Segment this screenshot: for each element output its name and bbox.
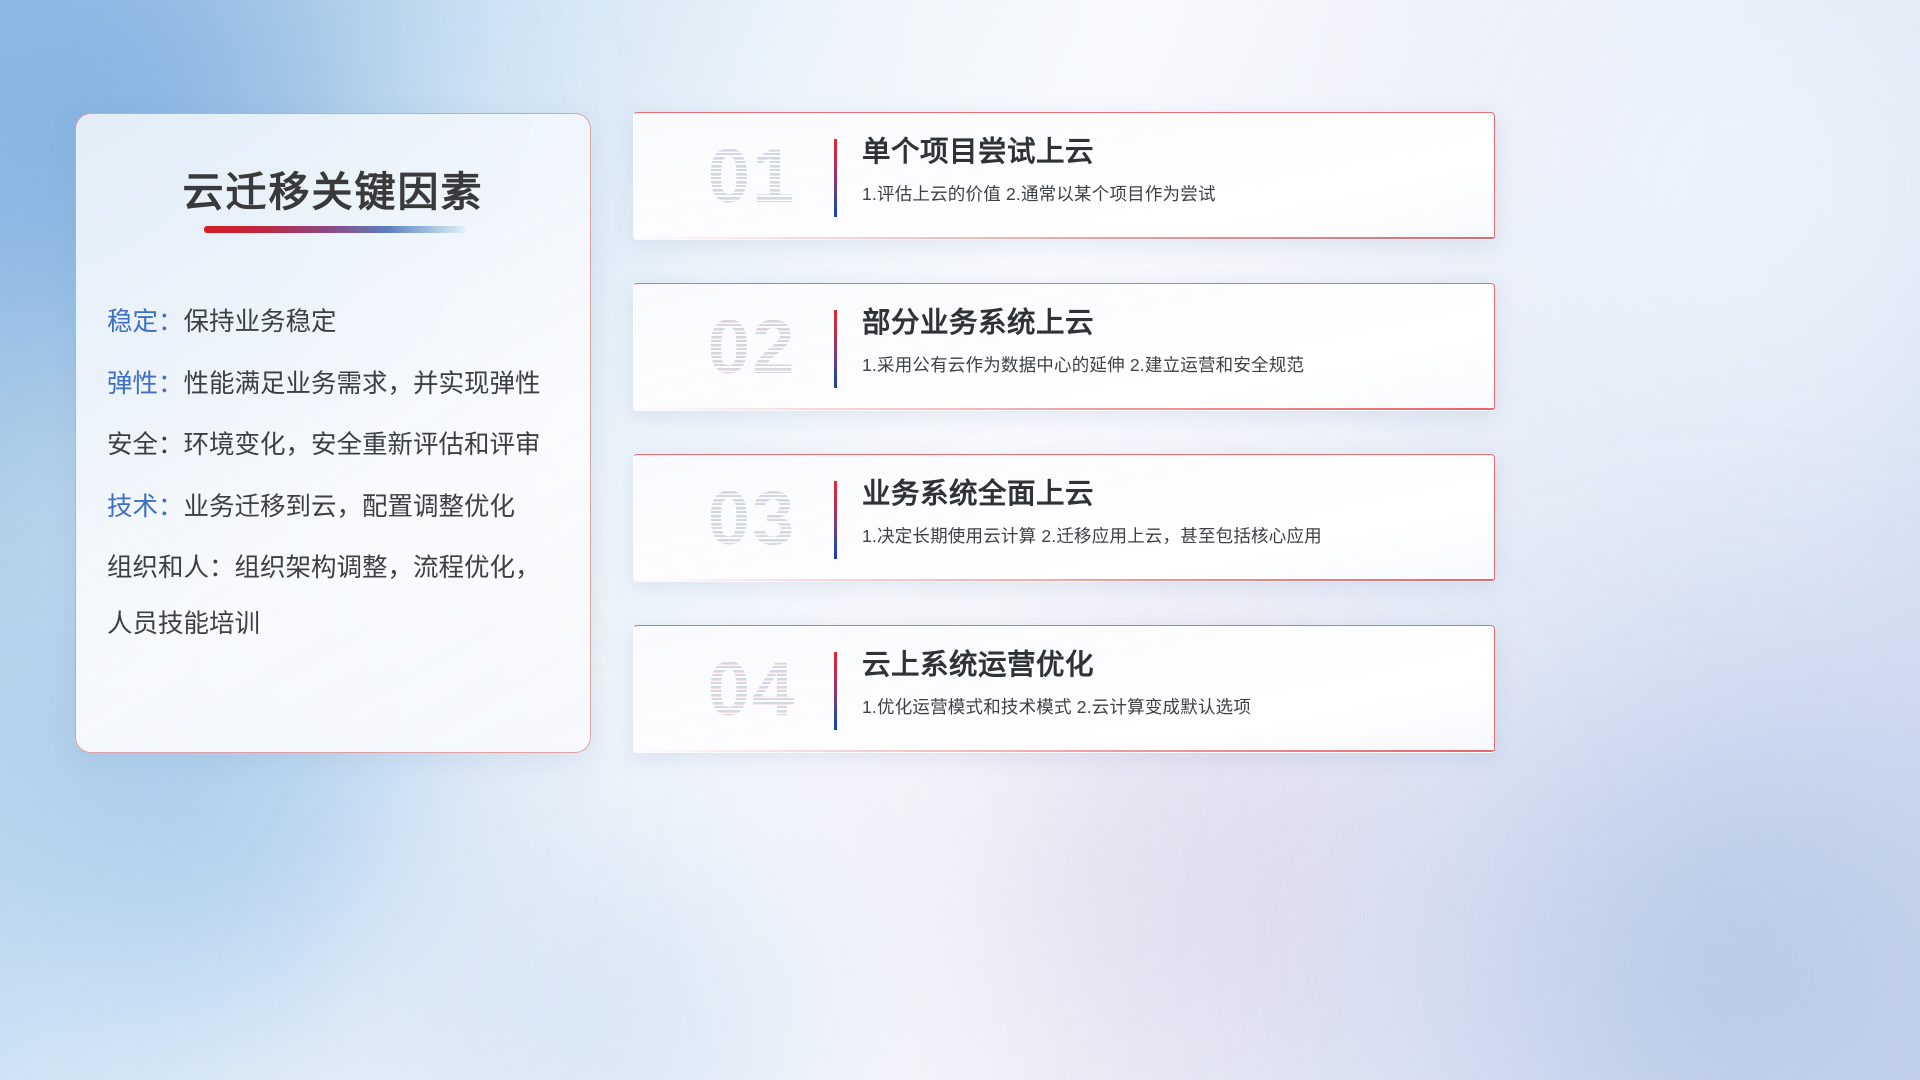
- stage-divider-icon: [834, 139, 837, 217]
- stage-title: 单个项目尝试上云: [862, 135, 1474, 169]
- stage-body: 单个项目尝试上云 1.评估上云的价值 2.通常以某个项目作为尝试: [862, 135, 1474, 206]
- stage-number-03-overlay: 03: [672, 473, 832, 565]
- factor-text: 业务迁移到云，配置调整优化: [184, 493, 516, 521]
- stage-description: 1.评估上云的价值 2.通常以某个项目作为尝试: [862, 181, 1474, 206]
- stage-divider-icon: [834, 481, 837, 559]
- stage-body: 云上系统运营优化 1.优化运营模式和技术模式 2.云计算变成默认选项: [862, 648, 1474, 719]
- stage-number-02-overlay: 02: [672, 302, 832, 394]
- stage-title: 业务系统全面上云: [862, 477, 1474, 511]
- factor-text: 性能满足业务需求，并实现弹性: [184, 370, 541, 398]
- factor-list: 稳定：保持业务稳定 弹性：性能满足业务需求，并实现弹性 安全：环境变化，安全重新…: [107, 310, 568, 637]
- stage-card-03[interactable]: 03 03 业务系统全面上云 1.决定长期使用云计算 2.迁移应用上云，甚至包括…: [633, 454, 1495, 582]
- factor-text: 人员技能培训: [107, 610, 260, 638]
- stage-description: 1.决定长期使用云计算 2.迁移应用上云，甚至包括核心应用: [862, 523, 1474, 548]
- stage-title: 云上系统运营优化: [862, 648, 1474, 682]
- stage-number-01-overlay: 01: [672, 131, 832, 223]
- factor-label: 弹性：: [107, 370, 184, 398]
- page-title: 云迁移关键因素: [76, 158, 590, 218]
- stage-divider-icon: [834, 652, 837, 730]
- factor-text: 组织架构调整，流程优化，: [235, 554, 541, 582]
- list-item: 稳定：保持业务稳定: [107, 310, 568, 336]
- factor-text: 保持业务稳定: [184, 308, 337, 336]
- stage-description: 1.优化运营模式和技术模式 2.云计算变成默认选项: [862, 694, 1474, 719]
- factor-label: 组织和人：: [107, 554, 235, 582]
- stage-number-04-overlay: 04: [672, 644, 832, 736]
- stage-card-list: 01 01 单个项目尝试上云 1.评估上云的价值 2.通常以某个项目作为尝试 0…: [633, 112, 1495, 753]
- list-item: 技术：业务迁移到云，配置调整优化: [107, 495, 568, 521]
- stage-card-02[interactable]: 02 02 部分业务系统上云 1.采用公有云作为数据中心的延伸 2.建立运营和安…: [633, 283, 1495, 411]
- list-item: 弹性：性能满足业务需求，并实现弹性: [107, 372, 568, 398]
- stage-card-04[interactable]: 04 04 云上系统运营优化 1.优化运营模式和技术模式 2.云计算变成默认选项: [633, 625, 1495, 753]
- stage-title: 部分业务系统上云: [862, 306, 1474, 340]
- stage-description: 1.采用公有云作为数据中心的延伸 2.建立运营和安全规范: [862, 352, 1474, 377]
- stage-divider-icon: [834, 310, 837, 388]
- stage-body: 部分业务系统上云 1.采用公有云作为数据中心的延伸 2.建立运营和安全规范: [862, 306, 1474, 377]
- stage-card-01[interactable]: 01 01 单个项目尝试上云 1.评估上云的价值 2.通常以某个项目作为尝试: [633, 112, 1495, 240]
- list-item: 组织和人：组织架构调整，流程优化，: [107, 556, 568, 582]
- factor-label: 稳定：: [107, 308, 184, 336]
- title-underline-rule: [204, 226, 466, 233]
- factor-label: 技术：: [107, 493, 184, 521]
- stage-body: 业务系统全面上云 1.决定长期使用云计算 2.迁移应用上云，甚至包括核心应用: [862, 477, 1474, 548]
- factor-label: 安全：: [107, 431, 184, 459]
- factor-text: 环境变化，安全重新评估和评审: [184, 431, 541, 459]
- list-item-continuation: 人员技能培训: [107, 612, 568, 638]
- key-factors-panel: 云迁移关键因素 稳定：保持业务稳定 弹性：性能满足业务需求，并实现弹性 安全：环…: [75, 113, 591, 753]
- list-item: 安全：环境变化，安全重新评估和评审: [107, 433, 568, 459]
